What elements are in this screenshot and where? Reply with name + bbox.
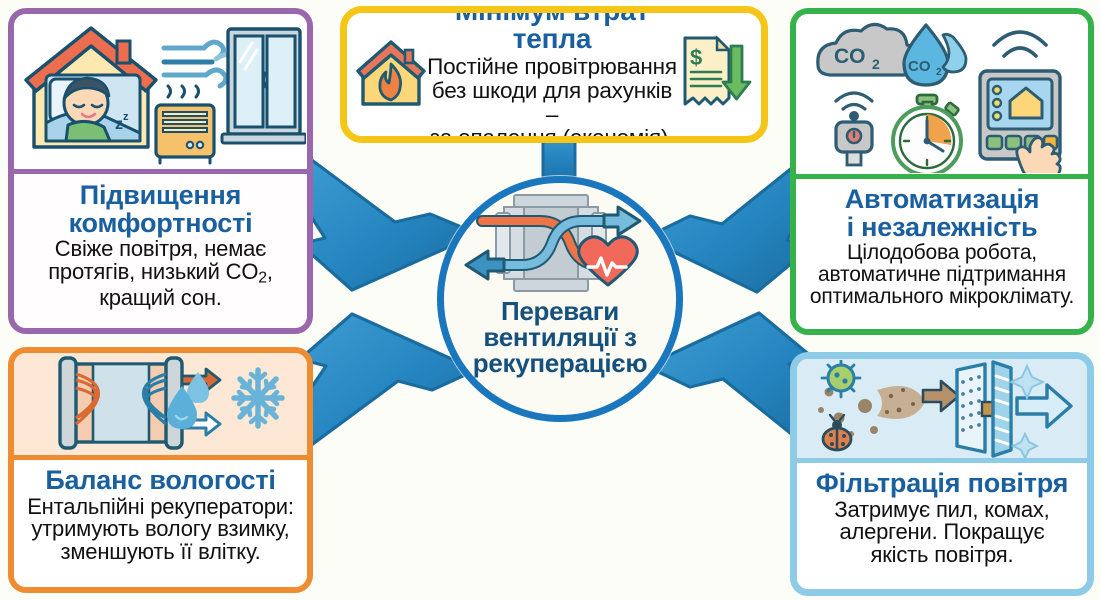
card-heat-icon-receipt: $ — [677, 30, 753, 117]
card-filter-title: Фільтрація повітря — [816, 470, 1068, 498]
card-auto-body: Цілодобова робота, автоматичне підтриман… — [810, 242, 1074, 307]
card-auto[interactable]: CO 2 — [790, 8, 1094, 335]
card-auto-text: Автоматизація і незалежність Цілодобова … — [796, 179, 1088, 329]
svg-text:CO: CO — [834, 45, 866, 68]
card-heat-icon-house — [355, 32, 427, 115]
house-sleeping-person-icon: z z — [26, 28, 156, 147]
enthalpy-exchanger-icon — [60, 358, 220, 448]
card-humid-body: Ентальпійні рекуператори: утримують воло… — [27, 496, 294, 565]
bug-icon — [823, 415, 851, 450]
card-comfort-body: Свіже повітря, немає протягів, низький C… — [48, 238, 273, 310]
center-hub[interactable]: Переваги вентиляції з рекуперацією — [437, 176, 683, 422]
infographic-canvas: z z — [0, 0, 1100, 600]
hub-title: Переваги вентиляції з рекуперацією — [473, 298, 648, 376]
svg-text:z: z — [115, 116, 123, 133]
svg-text:$: $ — [690, 45, 702, 70]
snowflake-icon — [234, 370, 282, 426]
heater-icon — [156, 86, 214, 163]
sensor-device-icon — [836, 122, 872, 165]
smart-panel-hand-icon — [980, 32, 1060, 173]
card-comfort-icons: z z — [14, 14, 307, 174]
card-humid-icons — [14, 353, 307, 460]
card-humid-title: Баланс вологості — [45, 467, 275, 495]
card-auto-icons: CO 2 — [796, 14, 1088, 179]
dirty-air-icon — [877, 381, 959, 419]
svg-text:2: 2 — [872, 56, 880, 72]
window-icon — [222, 29, 306, 143]
card-filter-icons — [797, 359, 1087, 463]
card-auto-title: Автоматизація і незалежність — [845, 186, 1040, 241]
virus-icon — [822, 360, 860, 397]
card-comfort-text: Підвищення комфортності Свіже повітря, н… — [14, 174, 307, 328]
card-filter[interactable]: Фільтрація повітря Затримує пил, комах, … — [790, 352, 1094, 596]
card-comfort-title: Підвищення комфортності — [69, 182, 253, 237]
card-filter-body: Затримує пил, комах, алергени. Покращує … — [834, 499, 1049, 568]
svg-text:2: 2 — [936, 67, 942, 78]
card-heat-title: Мінімум втрат тепла — [427, 6, 677, 54]
svg-text:z: z — [123, 111, 129, 123]
svg-text:CO: CO — [908, 58, 931, 75]
heat-exchanger-heart-icon — [462, 191, 658, 300]
co2-droplet-icon: CO 2 — [904, 25, 966, 85]
stopwatch-icon — [893, 95, 961, 173]
air-filter-icon — [957, 362, 1011, 456]
wifi-sensor-icon — [836, 93, 872, 119]
card-heat[interactable]: Мінімум втрат тепла Постійне провітрюван… — [340, 6, 768, 143]
card-humid-text: Баланс вологості Ентальпійні рекуператор… — [14, 460, 307, 587]
card-comfort[interactable]: z z — [8, 8, 313, 334]
card-humid[interactable]: Баланс вологості Ентальпійні рекуператор… — [8, 347, 313, 593]
card-filter-text: Фільтрація повітря Затримує пил, комах, … — [797, 463, 1087, 589]
card-heat-body: Постійне провітрювання без шкоди для рах… — [427, 55, 677, 143]
wind-icon — [164, 42, 235, 86]
